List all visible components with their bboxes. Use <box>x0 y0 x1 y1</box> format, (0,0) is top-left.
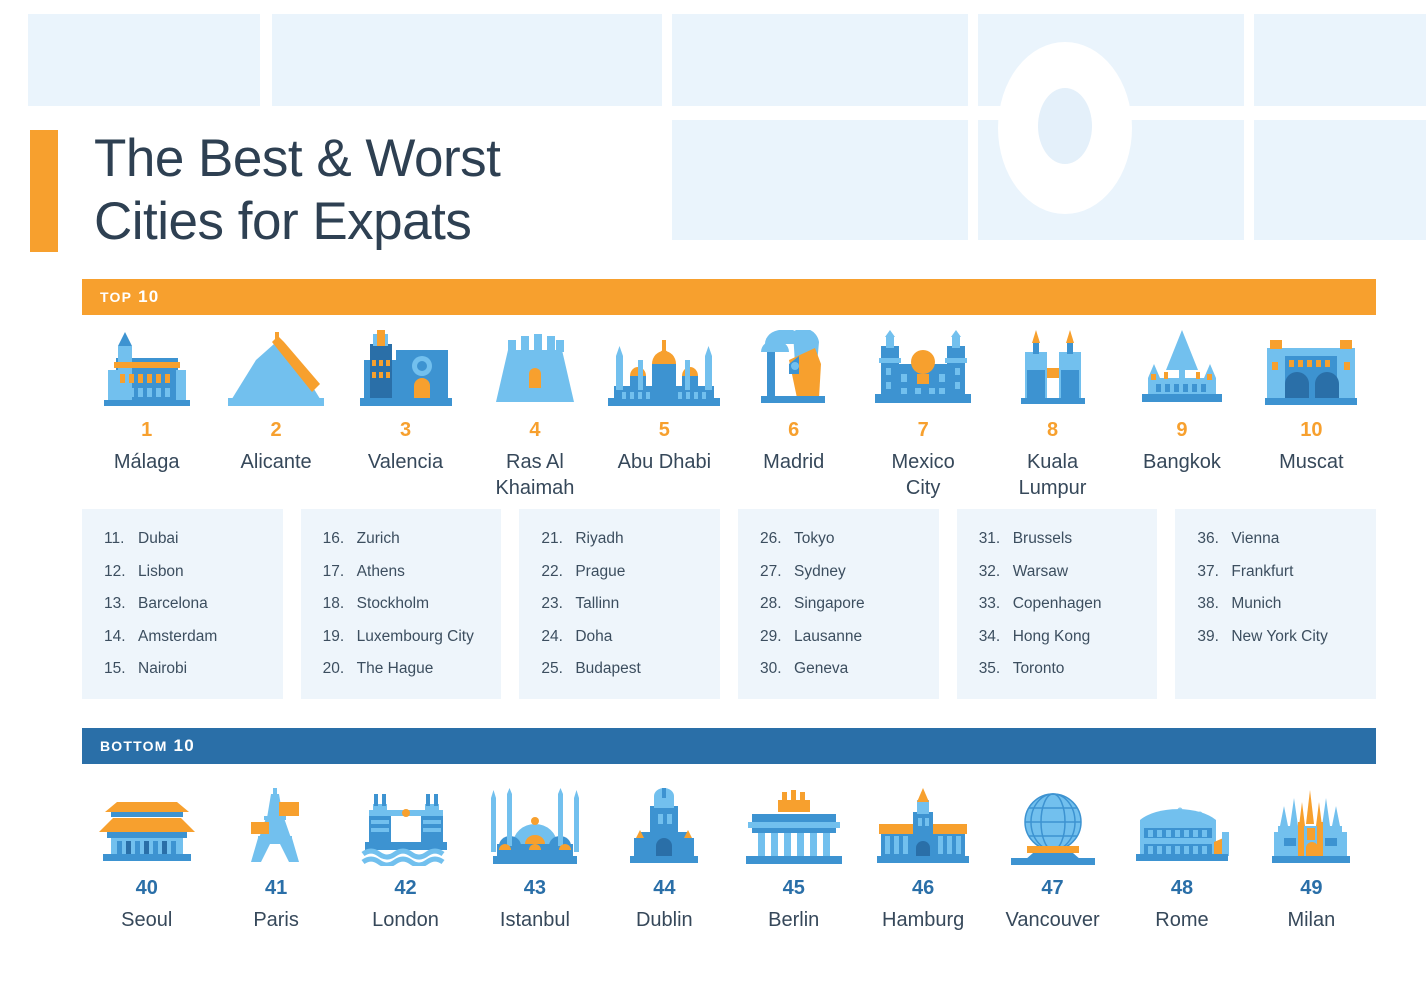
list-item-city: New York City <box>1231 629 1327 645</box>
city-rank: 47 <box>1041 878 1063 898</box>
list-item[interactable]: 16.Zurich <box>323 531 502 547</box>
section-header-bottom10-label: BOTTOM 10 <box>100 736 195 756</box>
city-cell-dublin[interactable]: 44Dublin <box>600 788 729 934</box>
list-item-rank: 12. <box>104 564 138 580</box>
list-item[interactable]: 21.Riyadh <box>541 531 720 547</box>
list-item[interactable]: 18.Stockholm <box>323 596 502 612</box>
list-item-city: Dubai <box>138 531 179 547</box>
abu-dhabi-mosque-icon <box>604 330 724 408</box>
city-cell-vancouver[interactable]: 47Vancouver <box>988 788 1117 934</box>
list-item[interactable]: 32.Warsaw <box>979 564 1158 580</box>
city-cell-paris[interactable]: 41Paris <box>211 788 340 934</box>
city-cell-london[interactable]: 42London <box>341 788 470 934</box>
list-item-city: Nairobi <box>138 661 187 677</box>
city-cell-milan[interactable]: 49Milan <box>1247 788 1376 934</box>
city-rank: 10 <box>1300 420 1322 440</box>
city-name: Alicante <box>241 450 312 476</box>
list-item-rank: 23. <box>541 596 575 612</box>
berlin-brandenburg-gate-icon <box>742 788 846 866</box>
city-name: Berlin <box>768 908 819 934</box>
list-item-city: Doha <box>575 629 612 645</box>
city-name: Madrid <box>763 450 824 476</box>
list-item-rank: 22. <box>541 564 575 580</box>
list-item-city: Zurich <box>357 531 400 547</box>
list-item-city: Barcelona <box>138 596 208 612</box>
list-item-city: Toronto <box>1013 661 1065 677</box>
list-item[interactable]: 15.Nairobi <box>104 661 283 677</box>
city-name: Paris <box>253 908 299 934</box>
list-item-city: Budapest <box>575 661 641 677</box>
city-rank: 48 <box>1171 878 1193 898</box>
list-item-rank: 28. <box>760 596 794 612</box>
city-cell-rome[interactable]: 48Rome <box>1117 788 1246 934</box>
list-item-rank: 29. <box>760 629 794 645</box>
city-name: Bangkok <box>1143 450 1221 476</box>
list-item-rank: 19. <box>323 629 357 645</box>
hamburg-rathaus-icon <box>873 788 973 866</box>
list-item-city: Prague <box>575 564 625 580</box>
list-item-rank: 38. <box>1197 596 1231 612</box>
city-cell-abu-dhabi[interactable]: 5Abu Dhabi <box>600 330 729 476</box>
list-item[interactable]: 12.Lisbon <box>104 564 283 580</box>
city-rank: 45 <box>783 878 805 898</box>
istanbul-blue-mosque-icon <box>485 788 585 866</box>
list-item-rank: 35. <box>979 661 1013 677</box>
list-item-city: Brussels <box>1013 531 1072 547</box>
city-cell-ras-al-khaimah[interactable]: 4Ras Al Khaimah <box>470 330 599 501</box>
list-item-city: Riyadh <box>575 531 623 547</box>
ranking-list-card: 11.Dubai12.Lisbon13.Barcelona14.Amsterda… <box>82 509 283 699</box>
london-tower-bridge-icon <box>359 788 453 866</box>
city-name: Ras Al Khaimah <box>495 450 574 501</box>
list-item-city: Lisbon <box>138 564 184 580</box>
city-rank: 9 <box>1176 420 1187 440</box>
list-item-city: Munich <box>1231 596 1281 612</box>
city-name: London <box>372 908 439 934</box>
top10-city-row: 1Málaga 2Alicante 3Valencia <box>82 330 1376 501</box>
bottom10-city-row: 40Seoul 41Paris 42London <box>82 788 1376 934</box>
list-item-rank: 32. <box>979 564 1013 580</box>
list-item[interactable]: 25.Budapest <box>541 661 720 677</box>
list-item[interactable]: 39.New York City <box>1197 629 1376 645</box>
city-cell-alicante[interactable]: 2Alicante <box>211 330 340 476</box>
list-item[interactable]: 19.Luxembourg City <box>323 629 502 645</box>
city-rank: 46 <box>912 878 934 898</box>
city-rank: 44 <box>653 878 675 898</box>
list-item[interactable]: 27.Sydney <box>760 564 939 580</box>
list-item-city: Amsterdam <box>138 629 217 645</box>
city-cell-kuala-lumpur[interactable]: 8Kuala Lumpur <box>988 330 1117 501</box>
list-item-city: Vienna <box>1231 531 1279 547</box>
rome-colosseum-icon <box>1130 788 1234 866</box>
list-item-rank: 31. <box>979 531 1013 547</box>
list-item-rank: 30. <box>760 661 794 677</box>
list-item[interactable]: 29.Lausanne <box>760 629 939 645</box>
ranking-list-card: 16.Zurich17.Athens18.Stockholm19.Luxembo… <box>301 509 502 699</box>
list-item-rank: 24. <box>541 629 575 645</box>
list-item[interactable]: 20.The Hague <box>323 661 502 677</box>
milan-duomo-icon <box>1264 788 1358 866</box>
list-item-rank: 18. <box>323 596 357 612</box>
ranking-list-card: 31.Brussels32.Warsaw33.Copenhagen34.Hong… <box>957 509 1158 699</box>
city-name: Mexico City <box>891 450 954 501</box>
list-item[interactable]: 33.Copenhagen <box>979 596 1158 612</box>
list-item[interactable]: 14.Amsterdam <box>104 629 283 645</box>
city-rank: 49 <box>1300 878 1322 898</box>
list-item-rank: 36. <box>1197 531 1231 547</box>
list-item-rank: 13. <box>104 596 138 612</box>
city-rank: 5 <box>659 420 670 440</box>
city-name: Kuala Lumpur <box>1019 450 1087 501</box>
list-item-city: Hong Kong <box>1013 629 1091 645</box>
city-name: Istanbul <box>500 908 570 934</box>
list-item-city: Tallinn <box>575 596 619 612</box>
list-item[interactable]: 34.Hong Kong <box>979 629 1158 645</box>
ranking-list-card: 21.Riyadh22.Prague23.Tallinn24.Doha25.Bu… <box>519 509 720 699</box>
city-rank: 4 <box>529 420 540 440</box>
list-item[interactable]: 24.Doha <box>541 629 720 645</box>
city-name: Milan <box>1287 908 1335 934</box>
city-rank: 41 <box>265 878 287 898</box>
city-rank: 40 <box>136 878 158 898</box>
section-top10-word: TOP <box>100 289 132 305</box>
list-item[interactable]: 28.Singapore <box>760 596 939 612</box>
list-item-rank: 11. <box>104 531 138 547</box>
list-item-rank: 15. <box>104 661 138 677</box>
list-item-city: Singapore <box>794 596 865 612</box>
paris-eiffel-tower-icon <box>247 788 305 866</box>
city-name: Valencia <box>368 450 443 476</box>
malaga-cathedral-icon <box>98 330 196 408</box>
city-cell-mexico-city[interactable]: 7Mexico City <box>858 330 987 501</box>
list-item-rank: 39. <box>1197 629 1231 645</box>
city-name: Málaga <box>114 450 180 476</box>
list-item-rank: 14. <box>104 629 138 645</box>
city-rank: 7 <box>918 420 929 440</box>
ranking-list-card: 36.Vienna37.Frankfurt38.Munich39.New Yor… <box>1175 509 1376 699</box>
city-rank: 8 <box>1047 420 1058 440</box>
list-item-city: Lausanne <box>794 629 862 645</box>
city-cell-madrid[interactable]: 6Madrid <box>729 330 858 476</box>
city-name: Abu Dhabi <box>618 450 711 476</box>
list-item[interactable]: 13.Barcelona <box>104 596 283 612</box>
city-cell-bangkok[interactable]: 9Bangkok <box>1117 330 1246 476</box>
list-item-city: Sydney <box>794 564 846 580</box>
seoul-gyeongbokgung-icon <box>97 788 197 866</box>
list-item[interactable]: 38.Munich <box>1197 596 1376 612</box>
list-item[interactable]: 23.Tallinn <box>541 596 720 612</box>
ranking-list-card: 26.Tokyo27.Sydney28.Singapore29.Lausanne… <box>738 509 939 699</box>
section-header-top10: TOP 10 <box>82 279 1376 315</box>
vancouver-science-world-icon <box>1003 788 1103 866</box>
list-item-city: Frankfurt <box>1231 564 1293 580</box>
mexico-city-cathedral-icon <box>873 330 973 408</box>
list-item[interactable]: 17.Athens <box>323 564 502 580</box>
list-item[interactable]: 35.Toronto <box>979 661 1158 677</box>
list-item-city: Stockholm <box>357 596 429 612</box>
list-item[interactable]: 36.Vienna <box>1197 531 1376 547</box>
list-item-city: Tokyo <box>794 531 835 547</box>
ranking-list-cards: 11.Dubai12.Lisbon13.Barcelona14.Amsterda… <box>82 509 1376 699</box>
section-header-bottom10: BOTTOM 10 <box>82 728 1376 764</box>
list-item-rank: 33. <box>979 596 1013 612</box>
section-top10-number: 10 <box>138 287 159 306</box>
list-item-city: The Hague <box>357 661 434 677</box>
list-item-city: Luxembourg City <box>357 629 474 645</box>
list-item[interactable]: 26.Tokyo <box>760 531 939 547</box>
city-cell-málaga[interactable]: 1Málaga <box>82 330 211 476</box>
ras-al-khaimah-fort-icon <box>490 330 580 408</box>
list-item-rank: 37. <box>1197 564 1231 580</box>
list-item[interactable]: 31.Brussels <box>979 531 1158 547</box>
bangkok-temple-icon <box>1138 330 1226 408</box>
list-item-city: Copenhagen <box>1013 596 1102 612</box>
city-rank: 42 <box>394 878 416 898</box>
dublin-church-icon <box>624 788 704 866</box>
city-rank: 43 <box>524 878 546 898</box>
city-rank: 2 <box>271 420 282 440</box>
list-item-rank: 34. <box>979 629 1013 645</box>
list-item-city: Geneva <box>794 661 848 677</box>
city-cell-hamburg[interactable]: 46Hamburg <box>858 788 987 934</box>
section-bottom10-number: 10 <box>174 736 195 755</box>
list-item-rank: 27. <box>760 564 794 580</box>
city-name: Hamburg <box>882 908 964 934</box>
madrid-bear-tree-icon <box>759 330 829 408</box>
page-title-block: The Best & Worst Cities for Expats <box>30 128 500 253</box>
list-item-rank: 17. <box>323 564 357 580</box>
city-cell-muscat[interactable]: 10Muscat <box>1247 330 1376 476</box>
city-cell-seoul[interactable]: 40Seoul <box>82 788 211 934</box>
list-item[interactable]: 11.Dubai <box>104 531 283 547</box>
page-title: The Best & Worst Cities for Expats <box>94 128 500 253</box>
city-name: Rome <box>1155 908 1208 934</box>
list-item[interactable]: 30.Geneva <box>760 661 939 677</box>
list-item-rank: 26. <box>760 531 794 547</box>
list-item-rank: 25. <box>541 661 575 677</box>
city-cell-istanbul[interactable]: 43Istanbul <box>470 788 599 934</box>
city-rank: 6 <box>788 420 799 440</box>
valencia-cathedral-icon <box>356 330 456 408</box>
city-name: Seoul <box>121 908 172 934</box>
kuala-lumpur-petronas-towers-icon <box>1013 330 1093 408</box>
city-cell-valencia[interactable]: 3Valencia <box>341 330 470 476</box>
list-item[interactable]: 22.Prague <box>541 564 720 580</box>
city-rank: 3 <box>400 420 411 440</box>
city-name: Muscat <box>1279 450 1343 476</box>
muscat-fort-icon <box>1261 330 1361 408</box>
city-name: Vancouver <box>1005 908 1099 934</box>
city-cell-berlin[interactable]: 45Berlin <box>729 788 858 934</box>
list-item-city: Warsaw <box>1013 564 1068 580</box>
section-header-top10-label: TOP 10 <box>100 287 159 307</box>
list-item-rank: 16. <box>323 531 357 547</box>
list-item-city: Athens <box>357 564 405 580</box>
city-rank: 1 <box>141 420 152 440</box>
alicante-castle-hill-icon <box>226 330 326 408</box>
list-item-rank: 20. <box>323 661 357 677</box>
city-name: Dublin <box>636 908 693 934</box>
title-accent-bar <box>30 130 58 252</box>
list-item-rank: 21. <box>541 531 575 547</box>
section-bottom10-word: BOTTOM <box>100 738 168 754</box>
list-item[interactable]: 37.Frankfurt <box>1197 564 1376 580</box>
